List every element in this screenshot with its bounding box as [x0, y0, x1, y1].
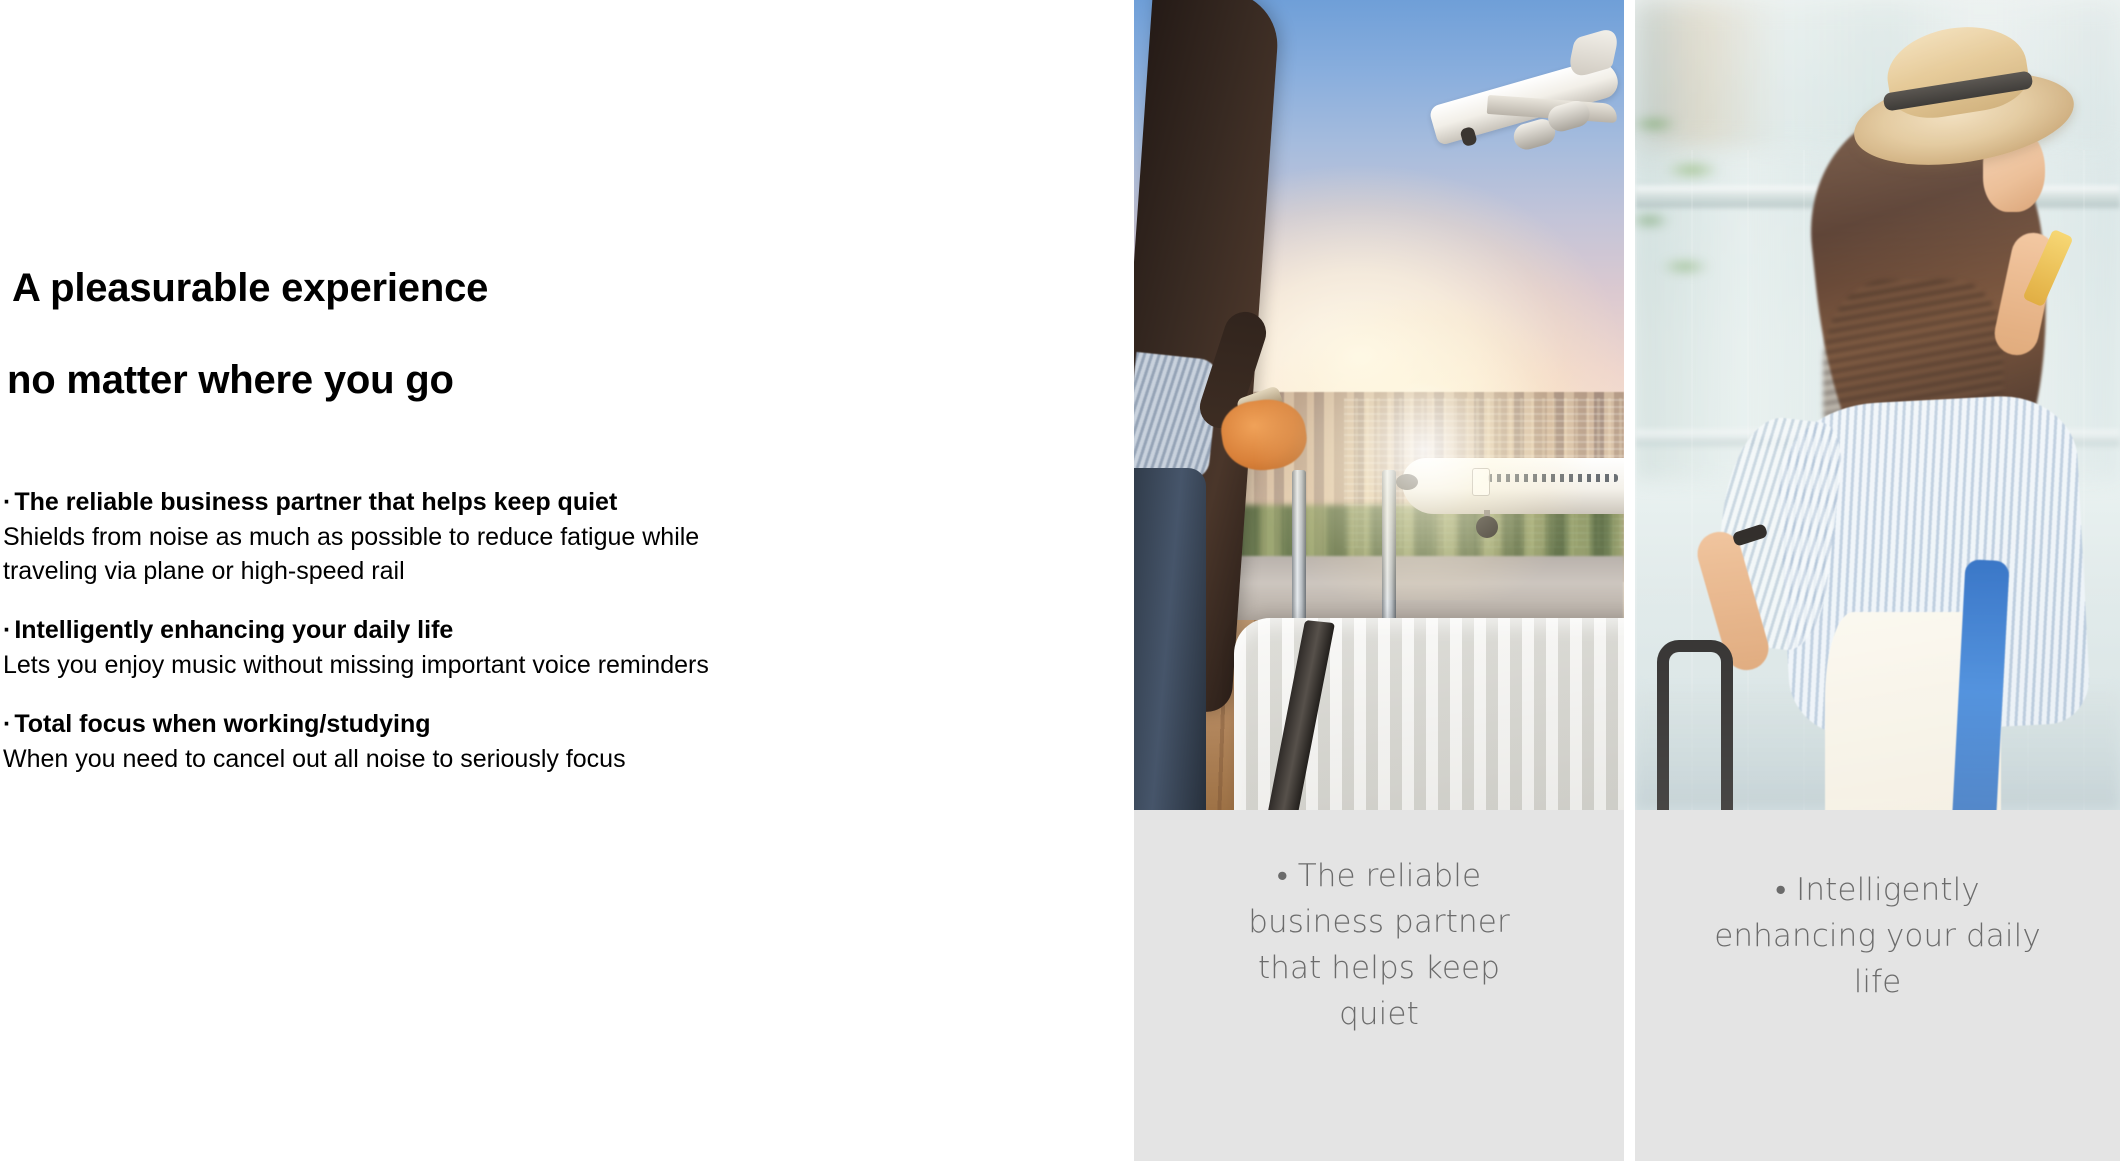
plane-wheel — [1476, 516, 1498, 538]
image-card-daily-life: • Intelligently enhancing your daily lif… — [1635, 0, 2120, 1161]
feature-description: When you need to cancel out all noise to… — [3, 742, 729, 776]
card-caption-panel: • The reliable business partner that hel… — [1134, 810, 1624, 1161]
feature-title-text: Intelligently enhancing your daily life — [14, 616, 453, 644]
feature-title-text: The reliable business partner that helps… — [14, 488, 617, 516]
feature-list: ·The reliable business partner that help… — [3, 486, 745, 776]
image-card-travel: • The reliable business partner that hel… — [1134, 0, 1624, 1161]
photo-business-traveler — [1134, 0, 1624, 810]
straw-hat-icon — [1853, 28, 2075, 168]
photo-woman-traveler — [1635, 0, 2120, 810]
image-card-group: • The reliable business partner that hel… — [1134, 0, 2120, 1161]
card-caption-text: • The reliable business partner that hel… — [1214, 810, 1544, 1038]
card-caption-panel: • Intelligently enhancing your daily lif… — [1635, 810, 2120, 1161]
plane-fuselage — [1402, 458, 1624, 514]
parked-airplane-icon — [1402, 440, 1624, 560]
foliage — [1635, 78, 1737, 308]
feature-title-text: Total focus when working/studying — [14, 710, 430, 738]
traveler-jeans — [1134, 468, 1206, 810]
feature-description: Shields from noise as much as possible t… — [3, 520, 729, 588]
plane-door — [1472, 468, 1490, 496]
feature-item-total-focus: ·Total focus when working/studying When … — [3, 708, 745, 776]
card-caption-text: • Intelligently enhancing your daily lif… — [1698, 810, 2058, 1006]
page-title-line-1: A pleasurable experience — [3, 268, 763, 308]
feature-item-reliable-partner: ·The reliable business partner that help… — [3, 486, 745, 588]
plane-windows — [1488, 474, 1618, 482]
bullet-icon: · — [3, 616, 14, 644]
bullet-icon: · — [3, 488, 14, 516]
page-title-line-2: no matter where you go — [3, 360, 763, 400]
feature-title: ·The reliable business partner that help… — [3, 486, 729, 519]
feature-title: ·Total focus when working/studying — [3, 708, 729, 741]
bullet-icon: · — [3, 710, 14, 738]
left-text-column: A pleasurable experience no matter where… — [3, 0, 773, 1161]
headline-group: A pleasurable experience no matter where… — [3, 268, 763, 400]
plane-nose — [1396, 474, 1418, 490]
suitcase-telescopic-handle — [1657, 640, 1733, 810]
feature-item-daily-life: ·Intelligently enhancing your daily life… — [3, 614, 745, 682]
feature-description: Lets you enjoy music without missing imp… — [3, 648, 729, 682]
feature-title: ·Intelligently enhancing your daily life — [3, 614, 729, 647]
